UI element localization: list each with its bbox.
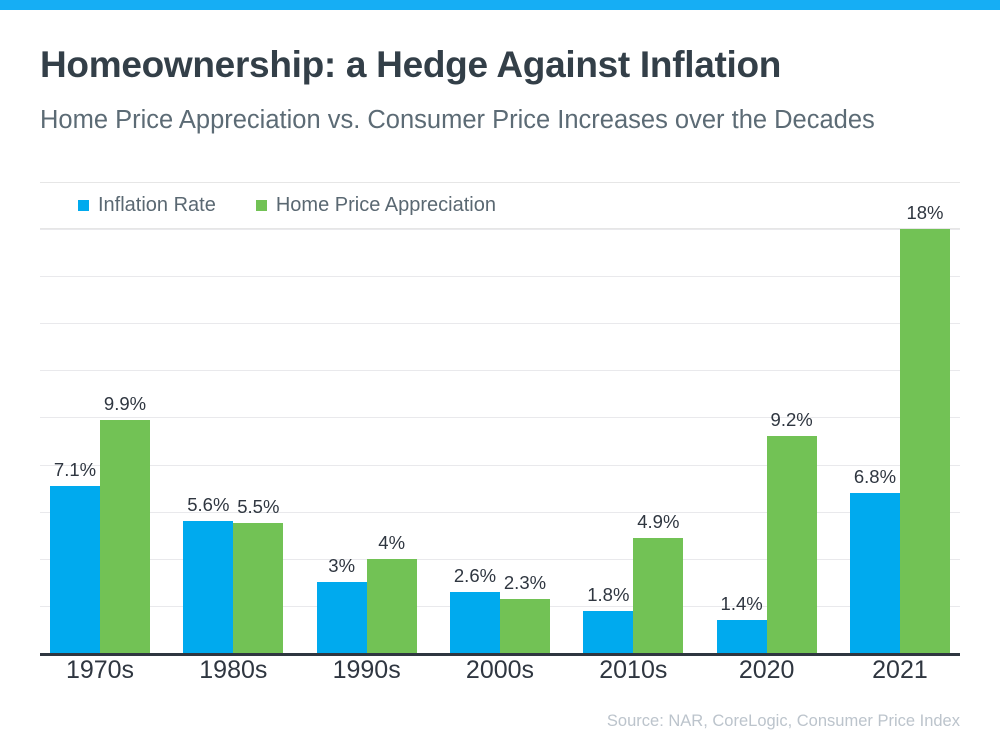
bar-chart: Inflation RateHome Price Appreciation 7.… xyxy=(40,182,960,702)
bar-value-label: 3% xyxy=(328,555,355,577)
bar-home-price-appreciation[interactable]: 5.5% xyxy=(233,523,283,653)
bar-value-label: 5.5% xyxy=(237,496,279,518)
legend-item-home-price-appreciation[interactable]: Home Price Appreciation xyxy=(256,194,496,217)
legend-label: Inflation Rate xyxy=(98,194,216,217)
bar-value-label: 2.3% xyxy=(504,572,546,594)
source-note: Source: NAR, CoreLogic, Consumer Price I… xyxy=(607,712,960,731)
bar-value-label: 4% xyxy=(378,532,405,554)
bar-slot: 1.8% xyxy=(583,229,633,653)
bar-value-label: 4.9% xyxy=(637,511,679,533)
bar-slot: 5.6% xyxy=(183,229,233,653)
bar-slot: 3% xyxy=(317,229,367,653)
plot-area: 7.1%9.9%5.6%5.5%3%4%2.6%2.3%1.8%4.9%1.4%… xyxy=(40,229,960,653)
bar-home-price-appreciation[interactable]: 9.2% xyxy=(767,436,817,653)
bar-inflation-rate[interactable]: 7.1% xyxy=(50,486,100,653)
bar-value-label: 2.6% xyxy=(454,565,496,587)
bar-group: 6.8%18% xyxy=(840,229,960,653)
x-axis-label: 2020 xyxy=(707,656,827,685)
bar-value-label: 1.4% xyxy=(721,593,763,615)
bar-inflation-rate[interactable]: 1.4% xyxy=(717,620,767,653)
bar-slot: 4% xyxy=(367,229,417,653)
bar-group: 7.1%9.9% xyxy=(40,229,160,653)
bar-value-label: 1.8% xyxy=(587,584,629,606)
bar-value-label: 9.2% xyxy=(771,409,813,431)
bar-slot: 1.4% xyxy=(717,229,767,653)
legend-swatch-icon xyxy=(78,200,89,211)
x-axis-label: 1990s xyxy=(307,656,427,685)
bar-home-price-appreciation[interactable]: 4.9% xyxy=(633,538,683,653)
bar-groups: 7.1%9.9%5.6%5.5%3%4%2.6%2.3%1.8%4.9%1.4%… xyxy=(40,229,960,653)
bar-value-label: 7.1% xyxy=(54,459,96,481)
chart-page: Homeownership: a Hedge Against Inflation… xyxy=(0,0,1000,750)
bar-value-label: 9.9% xyxy=(104,393,146,415)
bar-value-label: 6.8% xyxy=(854,466,896,488)
chart-legend: Inflation RateHome Price Appreciation xyxy=(40,183,496,228)
x-axis-label: 2021 xyxy=(840,656,960,685)
bar-group: 2.6%2.3% xyxy=(440,229,560,653)
x-axis-label: 2000s xyxy=(440,656,560,685)
bar-slot: 7.1% xyxy=(50,229,100,653)
bar-home-price-appreciation[interactable]: 2.3% xyxy=(500,599,550,653)
bar-home-price-appreciation[interactable]: 9.9% xyxy=(100,420,150,653)
bar-slot: 4.9% xyxy=(633,229,683,653)
bar-slot: 5.5% xyxy=(233,229,283,653)
bar-slot: 2.3% xyxy=(500,229,550,653)
bar-value-label: 18% xyxy=(906,202,943,224)
page-title: Homeownership: a Hedge Against Inflation xyxy=(40,44,781,86)
bar-slot: 6.8% xyxy=(850,229,900,653)
bar-group: 1.4%9.2% xyxy=(707,229,827,653)
top-accent-strip xyxy=(0,0,1000,10)
bar-slot: 18% xyxy=(900,229,950,653)
bar-inflation-rate[interactable]: 2.6% xyxy=(450,592,500,653)
legend-item-inflation-rate[interactable]: Inflation Rate xyxy=(78,194,216,217)
bar-home-price-appreciation[interactable]: 18% xyxy=(900,229,950,653)
bar-slot: 9.9% xyxy=(100,229,150,653)
bar-inflation-rate[interactable]: 3% xyxy=(317,582,367,653)
bar-slot: 9.2% xyxy=(767,229,817,653)
x-axis-label: 1970s xyxy=(40,656,160,685)
bar-inflation-rate[interactable]: 5.6% xyxy=(183,521,233,653)
page-subtitle: Home Price Appreciation vs. Consumer Pri… xyxy=(40,106,875,135)
bar-inflation-rate[interactable]: 6.8% xyxy=(850,493,900,653)
x-axis-labels: 1970s1980s1990s2000s2010s20202021 xyxy=(40,656,960,685)
bar-group: 3%4% xyxy=(307,229,427,653)
bar-value-label: 5.6% xyxy=(187,494,229,516)
bar-slot: 2.6% xyxy=(450,229,500,653)
bar-group: 1.8%4.9% xyxy=(573,229,693,653)
legend-swatch-icon xyxy=(256,200,267,211)
x-axis-label: 1980s xyxy=(173,656,293,685)
bar-home-price-appreciation[interactable]: 4% xyxy=(367,559,417,653)
bar-inflation-rate[interactable]: 1.8% xyxy=(583,611,633,653)
legend-label: Home Price Appreciation xyxy=(276,194,496,217)
x-axis-label: 2010s xyxy=(573,656,693,685)
bar-group: 5.6%5.5% xyxy=(173,229,293,653)
